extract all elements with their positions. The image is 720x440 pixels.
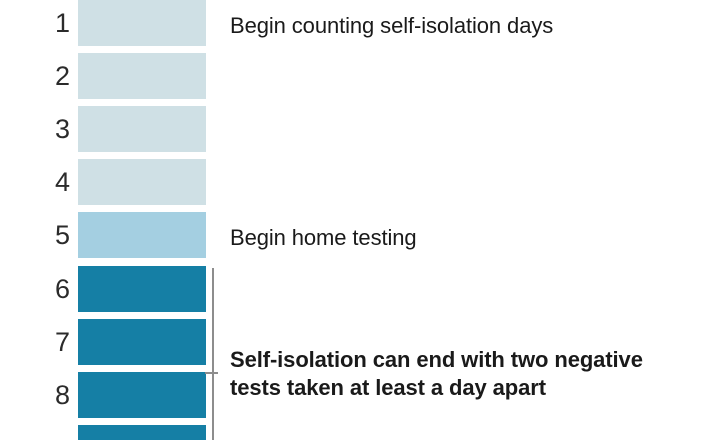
- bracket-tick-mark: [205, 372, 218, 374]
- annotation-day-5: Begin home testing: [230, 224, 417, 252]
- day-bar-4: [78, 159, 206, 205]
- day-bar-6: [78, 266, 206, 312]
- day-bar-7: [78, 319, 206, 365]
- day-bar-3: [78, 106, 206, 152]
- annotation-day-1: Begin counting self-isolation days: [230, 12, 553, 40]
- day-number-1: 1: [40, 10, 70, 37]
- day-bar-1: [78, 0, 206, 46]
- day-number-8: 8: [40, 382, 70, 409]
- day-bar-5: [78, 212, 206, 258]
- day-number-2: 2: [40, 63, 70, 90]
- day-bar-2: [78, 53, 206, 99]
- day-number-5: 5: [40, 222, 70, 249]
- self-isolation-timeline-chart: 1 2 3 4 5 6 7 8 Begin counti: [0, 0, 720, 440]
- day-number-7: 7: [40, 329, 70, 356]
- day-number-6: 6: [40, 276, 70, 303]
- day-number-4: 4: [40, 169, 70, 196]
- day-bar-8: [78, 372, 206, 418]
- bracket-vertical-line: [212, 268, 214, 440]
- annotation-bracket: Self-isolation can end with two negative…: [230, 346, 643, 402]
- day-bar-9: [78, 425, 206, 440]
- day-number-3: 3: [40, 116, 70, 143]
